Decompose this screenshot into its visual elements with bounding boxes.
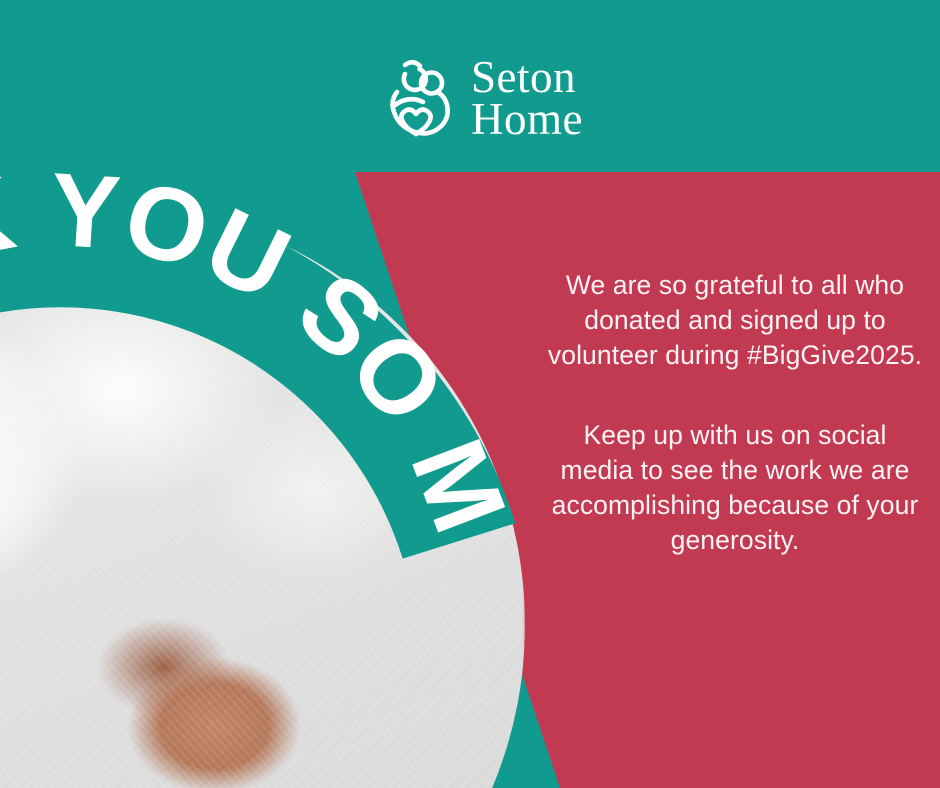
logo-wordmark: Seton Home: [471, 56, 583, 141]
seton-home-logo: Seton Home: [385, 52, 583, 144]
mother-and-child-heart-icon: [385, 52, 457, 144]
poster-canvas: THANK YOU SO MUCH! Seton Home We are so …: [0, 0, 940, 788]
photo-circle: [0, 205, 525, 788]
logo-word-line-2: Home: [471, 98, 583, 140]
copy-paragraph-1: We are so grateful to all who donated an…: [545, 268, 925, 374]
copy-paragraph-2: Keep up with us on social media to see t…: [545, 418, 925, 559]
photo-texture-overlay: [0, 205, 525, 788]
logo-word-line-1: Seton: [471, 56, 583, 98]
copy-spacer: [545, 374, 925, 418]
message-copy-block: We are so grateful to all who donated an…: [545, 268, 925, 559]
